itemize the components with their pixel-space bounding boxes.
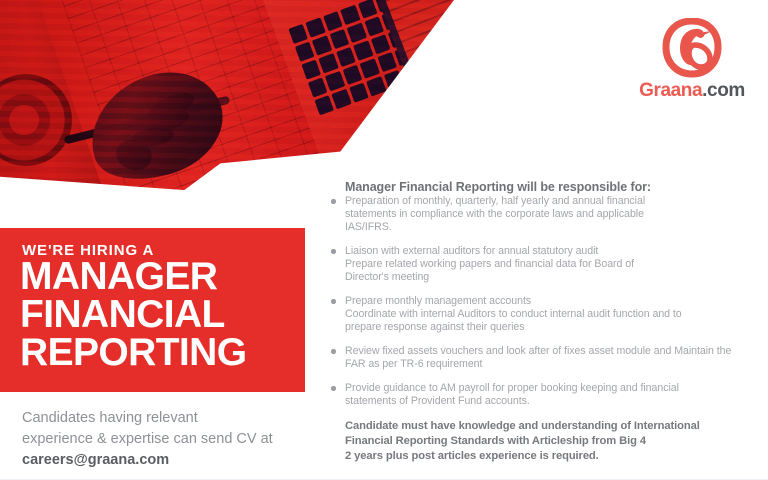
job-title: MANAGER FINANCIAL REPORTING xyxy=(20,258,246,372)
bullet-line: Preparation of monthly, quarterly, half … xyxy=(345,195,754,208)
bullet-dot-icon xyxy=(331,299,336,304)
bullet-line: IAS/IFRS. xyxy=(345,221,754,234)
footnote-line: Financial Reporting Standards with Artic… xyxy=(345,434,754,449)
cv-line-1: Candidates having relevant xyxy=(22,408,302,429)
logo-brand-name: Graana xyxy=(639,80,702,101)
list-item: Liaison with external auditors for annua… xyxy=(330,245,754,284)
bullet-dot-icon xyxy=(331,199,336,204)
bullet-line: Coordinate with internal Auditors to con… xyxy=(345,308,754,321)
graana-logo[interactable]: Graana.com xyxy=(636,18,748,114)
requirements-footnote: Candidate must have knowledge and unders… xyxy=(345,419,754,464)
bullet-line: statements of Provident Fund accounts. xyxy=(345,395,754,408)
bullet-line: Director's meeting xyxy=(345,271,754,284)
bullet-line: FAR as per TR-6 requirement xyxy=(345,358,754,371)
bullet-line: prepare response against their queries xyxy=(345,321,754,334)
logo-tld: .com xyxy=(702,80,745,101)
list-item: Review fixed assets vouchers and look af… xyxy=(330,345,754,371)
bullet-line: Provide guidance to AM payroll for prope… xyxy=(345,382,754,395)
footnote-line: 2 years plus post articles experience is… xyxy=(345,449,754,464)
graana-logo-wordmark: Graana.com xyxy=(636,80,748,102)
bullet-dot-icon xyxy=(331,386,336,391)
hiring-banner: WE'RE HIRING A MANAGER FINANCIAL REPORTI… xyxy=(0,228,305,392)
careers-email[interactable]: careers@graana.com xyxy=(22,450,302,471)
cv-instructions: Candidates having relevant experience & … xyxy=(22,408,302,471)
bullet-line: Liaison with external auditors for annua… xyxy=(345,245,754,258)
footnote-line: Candidate must have knowledge and unders… xyxy=(345,419,754,434)
bullet-line: statements in compliance with the corpor… xyxy=(345,208,754,221)
job-ad-poster: Graana.com WE'RE HIRING A MANAGER FINANC… xyxy=(0,0,768,480)
job-title-line: MANAGER xyxy=(20,258,246,296)
responsibilities-list: Preparation of monthly, quarterly, half … xyxy=(330,195,754,408)
job-title-line: FINANCIAL xyxy=(20,296,246,334)
bullet-line: Prepare monthly management accounts xyxy=(345,295,754,308)
bullet-dot-icon xyxy=(331,349,336,354)
bullet-dot-icon xyxy=(331,249,336,254)
responsibilities-heading: Manager Financial Reporting will be resp… xyxy=(345,180,754,194)
bullet-line: Prepare related working papers and finan… xyxy=(345,258,754,271)
list-item: Prepare monthly management accounts Coor… xyxy=(330,295,754,334)
cv-line-2: experience & expertise can send CV at xyxy=(22,429,302,450)
responsibilities-section: Manager Financial Reporting will be resp… xyxy=(330,180,754,464)
graana-bird-circle-icon xyxy=(636,18,748,80)
list-item: Preparation of monthly, quarterly, half … xyxy=(330,195,754,234)
bullet-line: Review fixed assets vouchers and look af… xyxy=(345,345,754,358)
list-item: Provide guidance to AM payroll for prope… xyxy=(330,382,754,408)
job-title-line: REPORTING xyxy=(20,334,246,372)
